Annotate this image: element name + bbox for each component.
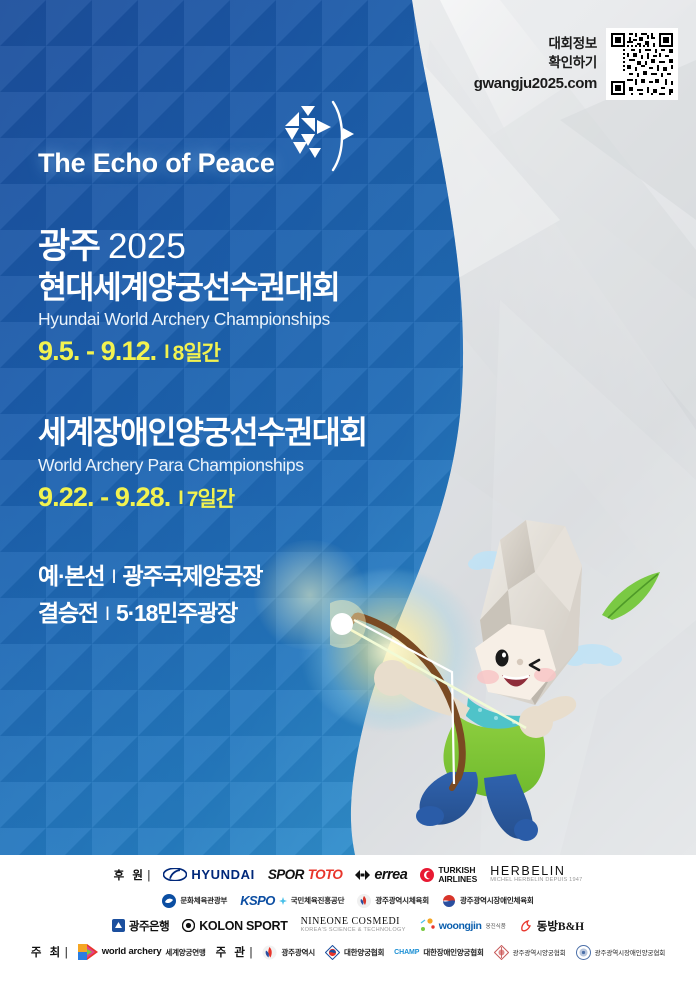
event1-dates: 9.5. - 9.12.I8일간 — [38, 336, 339, 367]
korea-para-archery-association-logo[interactable]: CHAMP 대한장애인양궁협회 — [394, 947, 483, 958]
gwangju-para-sports-label: 광주광역시장애인체육회 — [460, 895, 534, 906]
korea-archery-association-logo[interactable]: 대한양궁협회 — [325, 945, 384, 960]
tagline: The Echo of Peace — [38, 148, 275, 179]
gwangju-bank-label: 광주은행 — [129, 918, 169, 934]
arrow-tip — [331, 613, 353, 635]
sportoto-label-2: TOTO — [308, 867, 343, 882]
sponsor-row-3: 광주은행 KOLON SPORT NINEONE COSMEDI KOREA'S… — [0, 913, 696, 938]
organizer-label-text: 주 관 — [216, 947, 248, 959]
woongjin-sub: 웅진식품 — [486, 922, 506, 930]
event1-title-en: Hyundai World Archery Championships — [38, 309, 339, 330]
archer-mascot — [330, 520, 660, 860]
kspo-logo[interactable]: KSPO 국민체육진흥공단 — [240, 893, 344, 908]
venue-1-place: 광주국제양궁장 — [122, 563, 262, 589]
kolon-mark-icon — [182, 919, 195, 932]
leaf-icon — [602, 572, 660, 620]
gwangju-para-sports-mark-icon — [442, 894, 456, 908]
gwangju-archery-association-logo[interactable]: 광주광역시양궁협회 — [494, 945, 566, 960]
event1-separator: I — [156, 342, 172, 363]
sponsor-row-4-label-organizer: 주 관| — [216, 944, 253, 960]
turkish-line2: AIRLINES — [438, 875, 477, 884]
venue-2-place: 5·18민주광장 — [116, 600, 237, 626]
gwangju-para-archery-association-logo[interactable]: 광주광역시장애인양궁협회 — [576, 945, 666, 960]
kolon-label: KOLON SPORT — [199, 919, 287, 933]
qr-caption-line2: 확인하기 — [474, 53, 597, 72]
mcst-mark-icon — [162, 894, 176, 908]
world-archery-wordmark: world archery — [102, 947, 162, 957]
sportoto-label-1: SPOR — [268, 867, 304, 882]
hyundai-label: HYUNDAI — [191, 867, 254, 882]
errea-label: errea — [374, 867, 407, 883]
host-label-text: 주 최 — [31, 947, 63, 959]
sponsor-row-1-label-pipe: | — [145, 870, 150, 882]
errea-mark-icon — [355, 870, 370, 880]
venue-row-2: 결승전I5·18민주광장 — [38, 595, 262, 632]
hyundai-mark-icon — [163, 868, 187, 881]
world-archery-label: world archery — [102, 947, 162, 957]
event2-title-en: World Archery Para Championships — [38, 455, 367, 476]
event-block-1: 광주 2025 현대세계양궁선수권대회 Hyundai World Archer… — [38, 226, 339, 367]
event-block-2: 세계장애인양궁선수권대회 World Archery Para Champion… — [38, 414, 367, 513]
world-archery-sub: 세계양궁연맹 — [165, 947, 205, 958]
gwangju-bank-mark-icon — [112, 919, 125, 932]
venue-2-separator: I — [98, 604, 116, 625]
host-label-pipe: | — [63, 947, 68, 959]
turkish-airlines-mark-icon — [420, 868, 434, 882]
venue-1-stage: 예·본선 — [38, 563, 104, 589]
gwangju-archery-label: 광주광역시양궁협회 — [513, 947, 566, 957]
sponsor-row-2: 문화체육관광부 KSPO 국민체육진흥공단 광주광역시체육회 — [0, 888, 696, 913]
event2-duration: 7일간 — [187, 488, 234, 511]
mascot-head — [475, 520, 582, 705]
qr-block[interactable]: 대회정보 확인하기 gwangju2025.com — [474, 28, 678, 100]
korea-archery-label: 대한양궁협회 — [344, 947, 384, 958]
woongjin-label: woongjin — [439, 920, 482, 932]
gwangju-archery-mark-icon — [494, 945, 509, 960]
sponsor-row-1: 후 원| HYUNDAI SPORTOTO errea — [0, 861, 696, 888]
sponsor-row-4-label-host: 주 최| — [31, 944, 68, 960]
dongbang-mark-icon — [519, 919, 533, 933]
event2-dates: 9.22. - 9.28.I7일간 — [38, 482, 367, 513]
woongjin-logo[interactable]: woongjin 웅진식품 — [419, 918, 506, 933]
kspo-label: KSPO — [240, 893, 274, 908]
gwangju-sports-council-logo[interactable]: 광주광역시체육회 — [357, 894, 429, 908]
event2-separator: I — [170, 488, 186, 509]
event1-duration: 8일간 — [173, 342, 220, 365]
mcst-label: 문화체육관광부 — [180, 895, 227, 906]
sponsor-footer: 후 원| HYUNDAI SPORTOTO errea — [0, 855, 696, 985]
turkish-airlines-label: TURKISH AIRLINES — [438, 866, 477, 884]
venue-2-stage: 결승전 — [38, 600, 98, 626]
korea-para-archery-mark-text: CHAMP — [394, 949, 419, 956]
kolon-sport-logo[interactable]: KOLON SPORT — [182, 919, 287, 933]
gwangju-sports-label: 광주광역시체육회 — [375, 895, 429, 906]
event2-title-kr: 세계장애인양궁선수권대회 — [38, 414, 367, 452]
herbelin-logo[interactable]: HERBELIN MICHEL HERBELIN DEPUIS 1947 — [490, 865, 582, 884]
nineone-sub: KOREA'S SCIENCE & TECHNOLOGY — [301, 928, 406, 934]
gwangju-para-sports-council-logo[interactable]: 광주광역시장애인체육회 — [442, 894, 534, 908]
organizer-label-pipe: | — [247, 947, 252, 959]
kspo-sub: 국민체육진흥공단 — [291, 895, 345, 906]
korea-archery-mark-icon — [325, 945, 340, 960]
turkish-airlines-logo[interactable]: TURKISH AIRLINES — [420, 866, 477, 884]
world-archery-mark-icon — [78, 944, 98, 960]
qr-caption-line1: 대회정보 — [474, 34, 597, 53]
venue-1-separator: I — [104, 567, 122, 588]
gwangju-city-logo[interactable]: 광주광역시 — [262, 945, 315, 960]
woongjin-mark-icon — [419, 918, 435, 933]
nineone-cosmedi-logo[interactable]: NINEONE COSMEDI KOREA'S SCIENCE & TECHNO… — [301, 917, 406, 933]
event2-date-range: 9.22. - 9.28. — [38, 482, 170, 512]
korea-para-archery-label: 대한장애인양궁협회 — [423, 947, 483, 958]
herbelin-sub: MICHEL HERBELIN DEPUIS 1947 — [490, 878, 582, 884]
gwangju-para-archery-mark-icon — [576, 945, 591, 960]
world-archery-logo[interactable]: world archery 세계양궁연맹 — [78, 944, 206, 960]
dongbang-bh-logo[interactable]: 동방B&H — [519, 918, 584, 934]
sponsor-row-1-label: 후 원| — [114, 867, 151, 883]
event1-city: 광주 — [38, 227, 100, 266]
gwangju-sports-mark-icon — [357, 894, 371, 908]
qr-code-icon[interactable] — [606, 28, 678, 100]
gwangju-bank-logo[interactable]: 광주은행 — [112, 918, 169, 934]
sportoto-logo[interactable]: SPORTOTO — [268, 867, 342, 882]
event1-title-kr-line2: 현대세계양궁선수권대회 — [38, 269, 339, 307]
venue-list: 예·본선I광주국제양궁장 결승전I5·18민주광장 — [38, 558, 262, 633]
qr-url: gwangju2025.com — [474, 73, 597, 94]
sponsor-row-1-label-text: 후 원 — [114, 870, 146, 882]
qr-caption: 대회정보 확인하기 gwangju2025.com — [474, 34, 597, 94]
event1-year: 2025 — [108, 227, 186, 266]
gwangju-city-mark-icon — [262, 945, 277, 960]
errea-logo[interactable]: errea — [355, 867, 407, 883]
hyundai-logo[interactable]: HYUNDAI — [163, 867, 254, 882]
event1-date-range: 9.5. - 9.12. — [38, 336, 156, 366]
gwangju-para-archery-label: 광주광역시장애인양궁협회 — [595, 947, 666, 957]
gwangju-city-label: 광주광역시 — [281, 947, 315, 958]
kspo-mark-icon — [279, 897, 287, 905]
event1-title-kr-line1: 광주 2025 — [38, 226, 339, 269]
mcst-logo[interactable]: 문화체육관광부 — [162, 894, 227, 908]
dongbang-label: 동방B&H — [537, 918, 584, 934]
poster-root: 대회정보 확인하기 gwangju2025.com — [0, 0, 696, 985]
sponsor-row-4: 주 최| world archery 세계양궁연맹 주 관| — [0, 938, 696, 966]
venue-row-1: 예·본선I광주국제양궁장 — [38, 558, 262, 595]
